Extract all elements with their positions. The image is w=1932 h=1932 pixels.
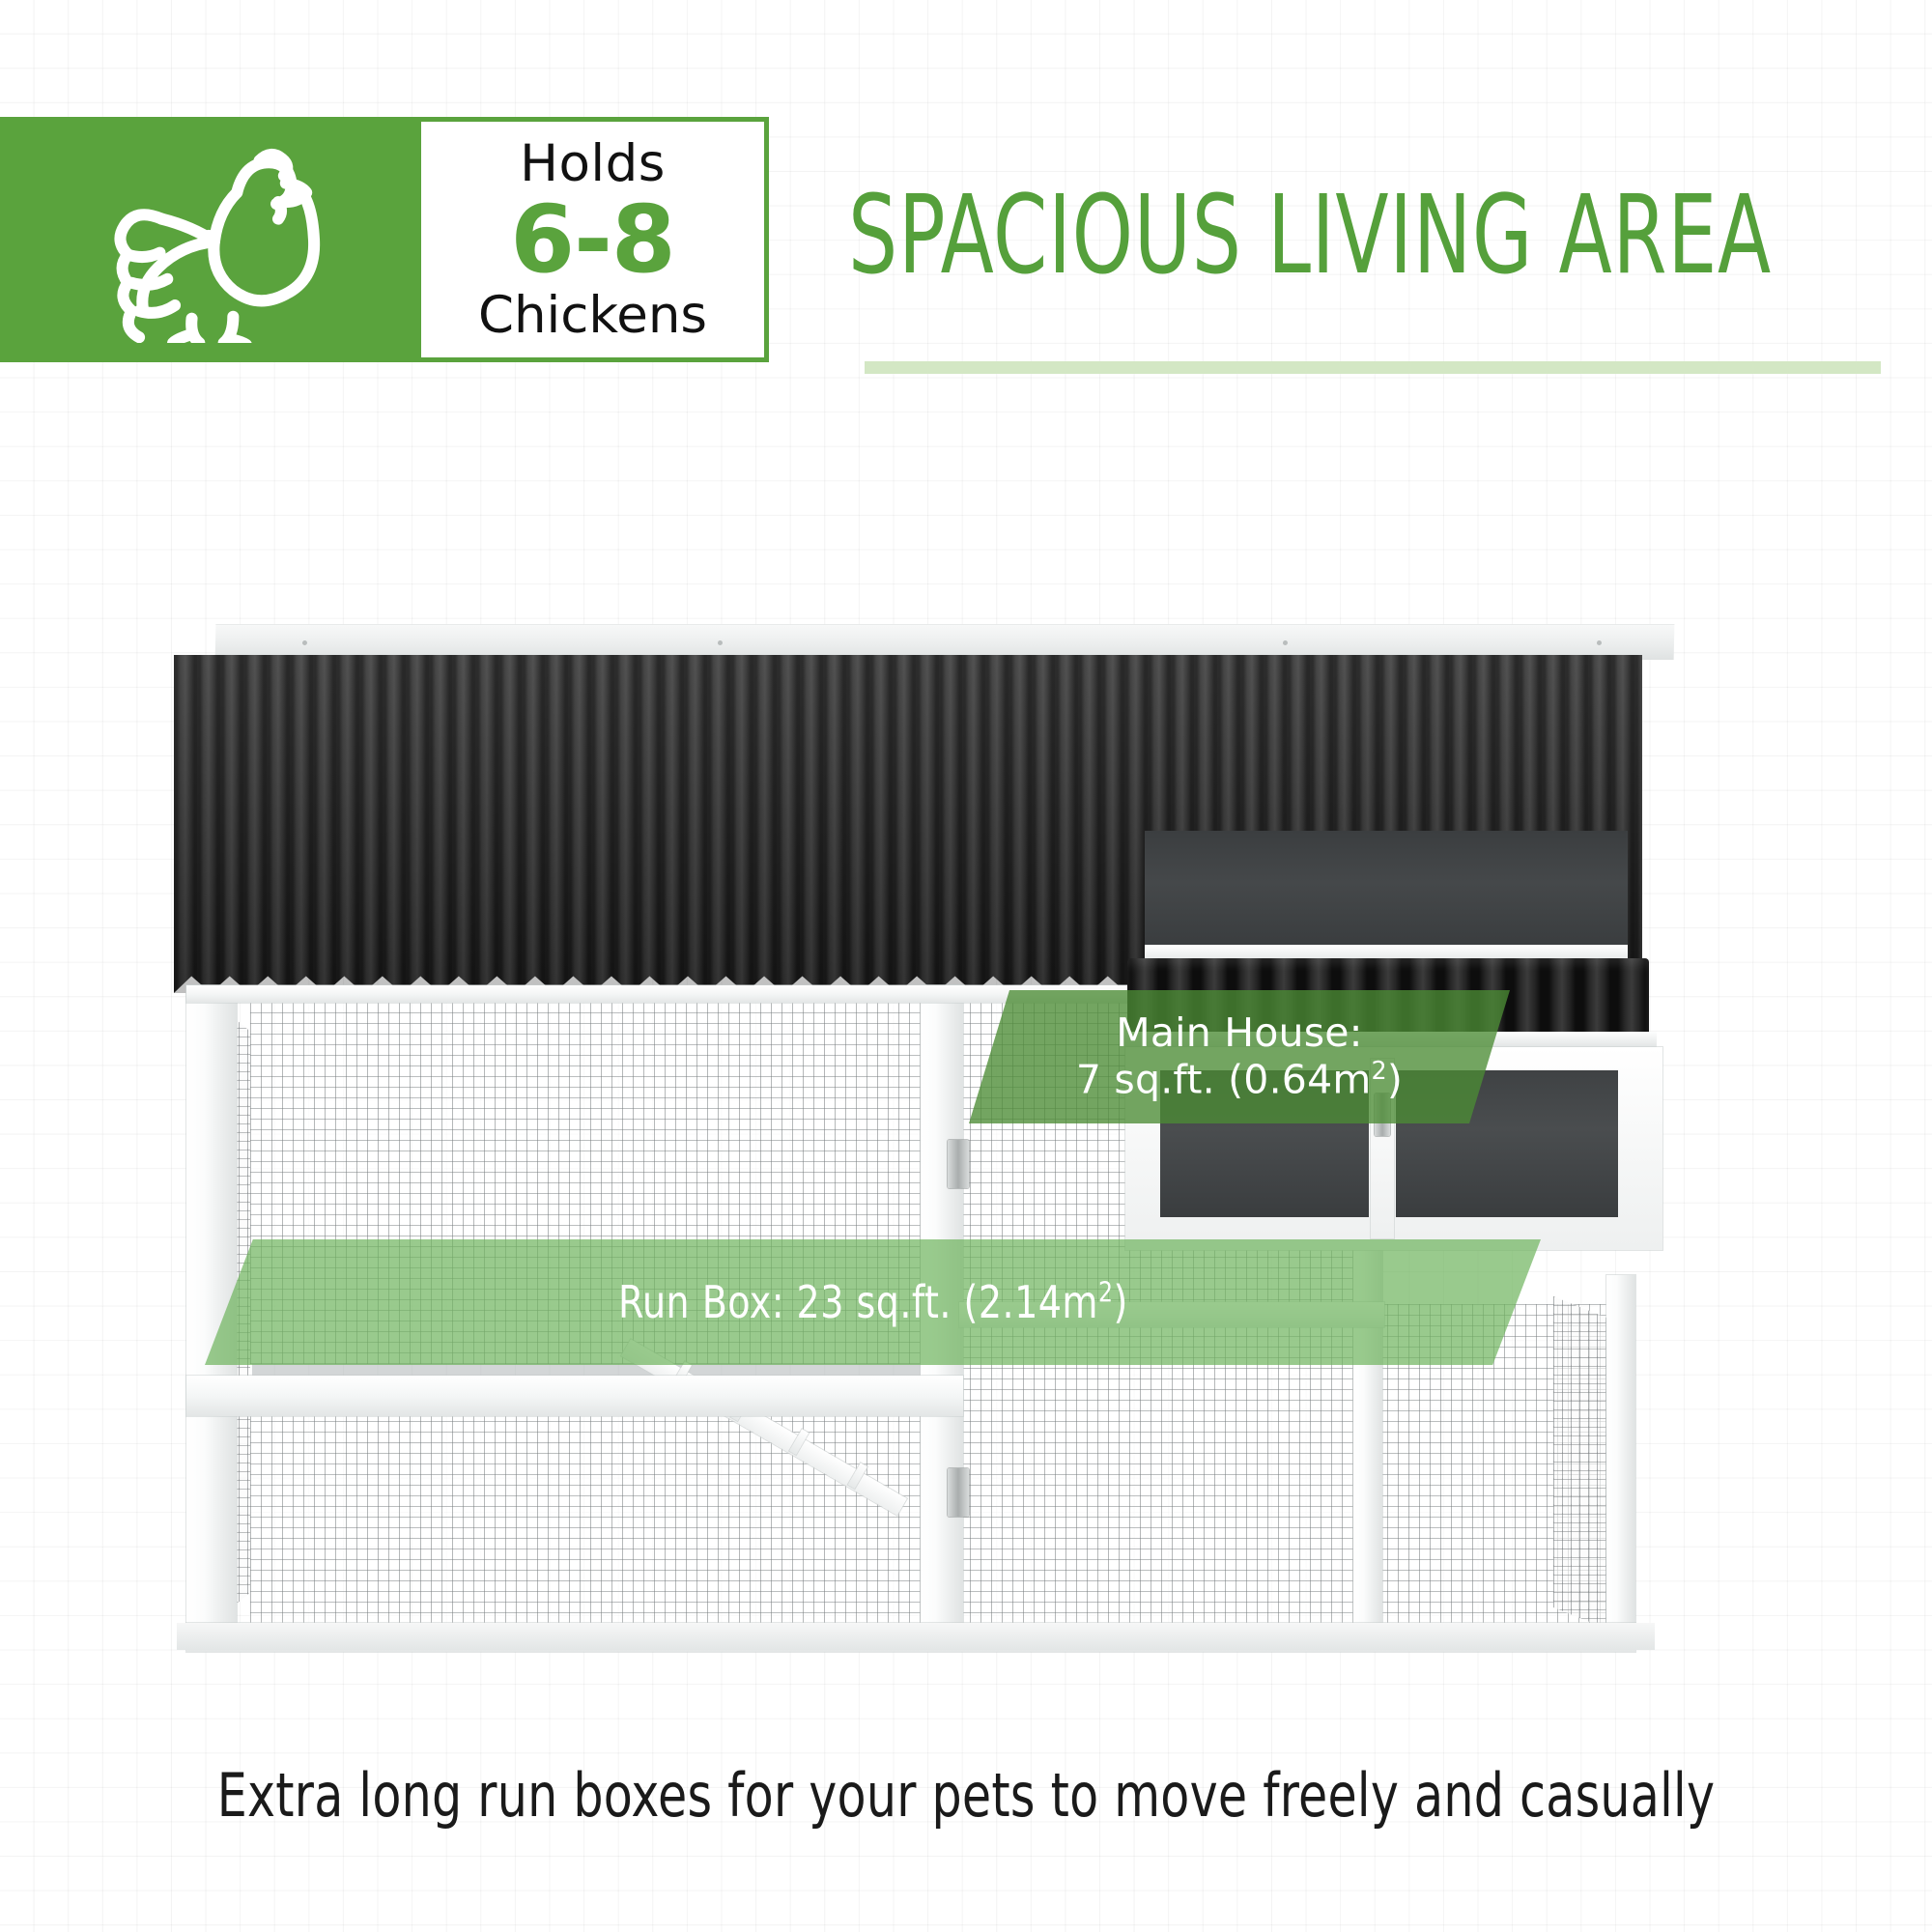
main-house-line2-prefix: 7 sq.ft. (0.64m [1076, 1056, 1372, 1102]
screw-icon [302, 640, 307, 645]
chicken-icon [97, 136, 325, 343]
ramp-step [789, 1429, 809, 1455]
caption-text: Extra long run boxes for your pets to mo… [116, 1760, 1816, 1831]
door-hinge-icon[interactable] [948, 1468, 969, 1517]
callout-main-house: Main House: 7 sq.ft. (0.64m2) [969, 990, 1510, 1123]
run-mid-rail [186, 1376, 963, 1416]
run-box-prefix: Run Box: 23 sq.ft. (2.14m [618, 1276, 1098, 1328]
main-house-line2-suffix: ) [1387, 1056, 1403, 1102]
capacity-badge: Holds 6-8 Chickens [421, 117, 769, 362]
run-shelf-rail [252, 1364, 928, 1376]
run-mesh-panel [250, 1410, 926, 1631]
ridge-cap [215, 624, 1675, 660]
callout-run-box: Run Box: 23 sq.ft. (2.14m2) [205, 1239, 1541, 1365]
run-box-suffix: ) [1113, 1276, 1127, 1328]
ramp-step [848, 1463, 867, 1489]
screw-icon [718, 640, 723, 645]
main-house-superscript: 2 [1372, 1056, 1387, 1085]
marketing-image: Holds 6-8 Chickens SPACIOUS LIVING AREA [0, 0, 1932, 1932]
nesting-box-backwall [1145, 831, 1628, 947]
capacity-count: 6-8 [510, 193, 674, 286]
run-box-superscript: 2 [1098, 1277, 1113, 1309]
main-house-line1: Main House: [1116, 1009, 1362, 1056]
callout-run-box-text: Run Box: 23 sq.ft. (2.14m2) [618, 1276, 1128, 1328]
page-title: SPACIOUS LIVING AREA [848, 182, 1772, 290]
chicken-capacity-icon-panel [0, 117, 421, 362]
callout-main-house-text: Main House: 7 sq.ft. (0.64m2) [1076, 1010, 1403, 1103]
door-hinge-icon[interactable] [948, 1140, 969, 1188]
product-illustration [169, 483, 1739, 1748]
run-door-mesh [959, 1325, 1365, 1631]
holds-label: Holds [520, 138, 666, 189]
screw-icon [1283, 640, 1288, 645]
run-corner-post [1606, 1275, 1635, 1642]
base-board [177, 1623, 1655, 1650]
capacity-unit: Chickens [478, 290, 707, 341]
headline-underline [865, 361, 1881, 374]
screw-icon [1597, 640, 1602, 645]
